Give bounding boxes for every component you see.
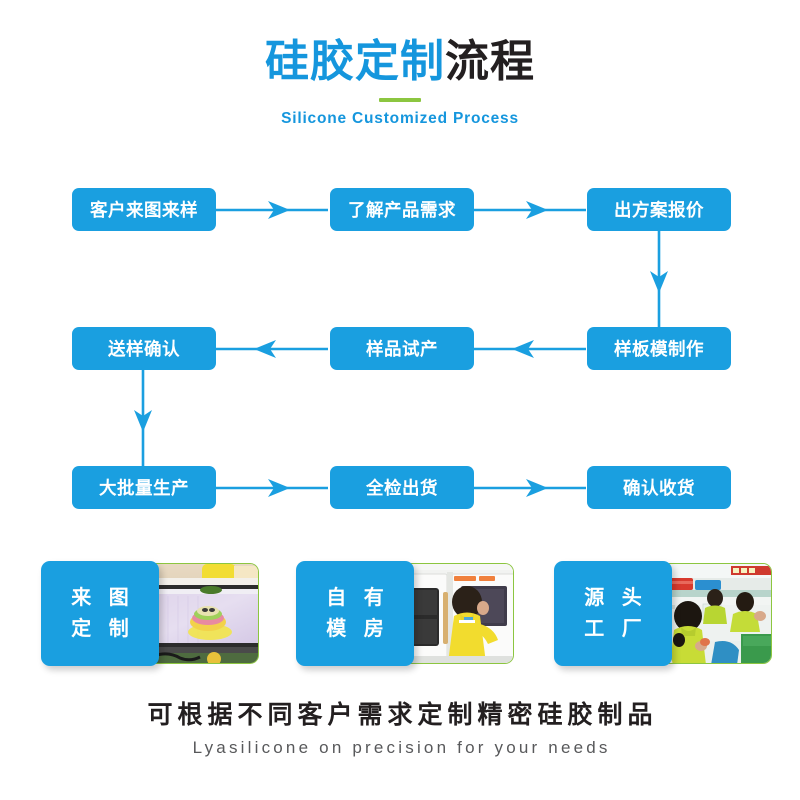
- feature-card-line1: 源 头: [578, 583, 648, 614]
- arrow-right-icon: [216, 199, 328, 221]
- feature-card-label: 源 头 工 厂: [554, 561, 672, 666]
- footer-tagline-cn: 可根据不同客户需求定制精密硅胶制品: [0, 698, 800, 732]
- feature-card-line1: 自 有: [320, 583, 390, 614]
- page-subtitle: Silicone Customized Process: [0, 108, 800, 130]
- arrow-right-icon: [474, 477, 586, 499]
- page-title-rest: 流程: [445, 37, 535, 86]
- feature-card[interactable]: 自 有 模 房: [296, 561, 514, 666]
- flow-step-box[interactable]: 送样确认: [72, 327, 216, 370]
- title-divider: [379, 98, 421, 102]
- feature-card-line1: 来 图: [65, 583, 135, 614]
- arrow-right-icon: [474, 199, 586, 221]
- flow-step-box[interactable]: 样品试产: [330, 327, 474, 370]
- flow-step-box[interactable]: 全检出货: [330, 466, 474, 509]
- feature-card-line2: 工 厂: [578, 614, 648, 645]
- silicone-process-infographic: 硅胶定制流程 Silicone Customized Process 客户来图来…: [0, 0, 800, 800]
- feature-card-line2: 模 房: [320, 614, 390, 645]
- arrow-down-icon: [132, 368, 154, 468]
- feature-cards: 来 图 定 制: [0, 561, 800, 673]
- footer-tagline-en: Lyasilicone on precision for your needs: [0, 735, 800, 761]
- feature-card-line2: 定 制: [65, 614, 135, 645]
- arrow-right-icon: [216, 477, 328, 499]
- page-title: 硅胶定制流程: [0, 34, 800, 90]
- feature-card[interactable]: 来 图 定 制: [41, 561, 259, 666]
- flow-step-box[interactable]: 出方案报价: [587, 188, 731, 231]
- arrow-left-icon: [474, 338, 586, 360]
- arrow-left-icon: [216, 338, 328, 360]
- flow-step-box[interactable]: 客户来图来样: [72, 188, 216, 231]
- page-header: 硅胶定制流程 Silicone Customized Process: [0, 34, 800, 130]
- feature-card-label: 自 有 模 房: [296, 561, 414, 666]
- flow-step-box[interactable]: 了解产品需求: [330, 188, 474, 231]
- feature-card-label: 来 图 定 制: [41, 561, 159, 666]
- flow-step-box[interactable]: 样板模制作: [587, 327, 731, 370]
- arrow-down-icon: [648, 229, 670, 329]
- flow-step-box[interactable]: 大批量生产: [72, 466, 216, 509]
- page-title-highlight: 硅胶定制: [265, 37, 445, 86]
- flow-step-box[interactable]: 确认收货: [587, 466, 731, 509]
- page-footer: 可根据不同客户需求定制精密硅胶制品 Lyasilicone on precisi…: [0, 698, 800, 761]
- feature-card[interactable]: 源 头 工 厂: [554, 561, 772, 666]
